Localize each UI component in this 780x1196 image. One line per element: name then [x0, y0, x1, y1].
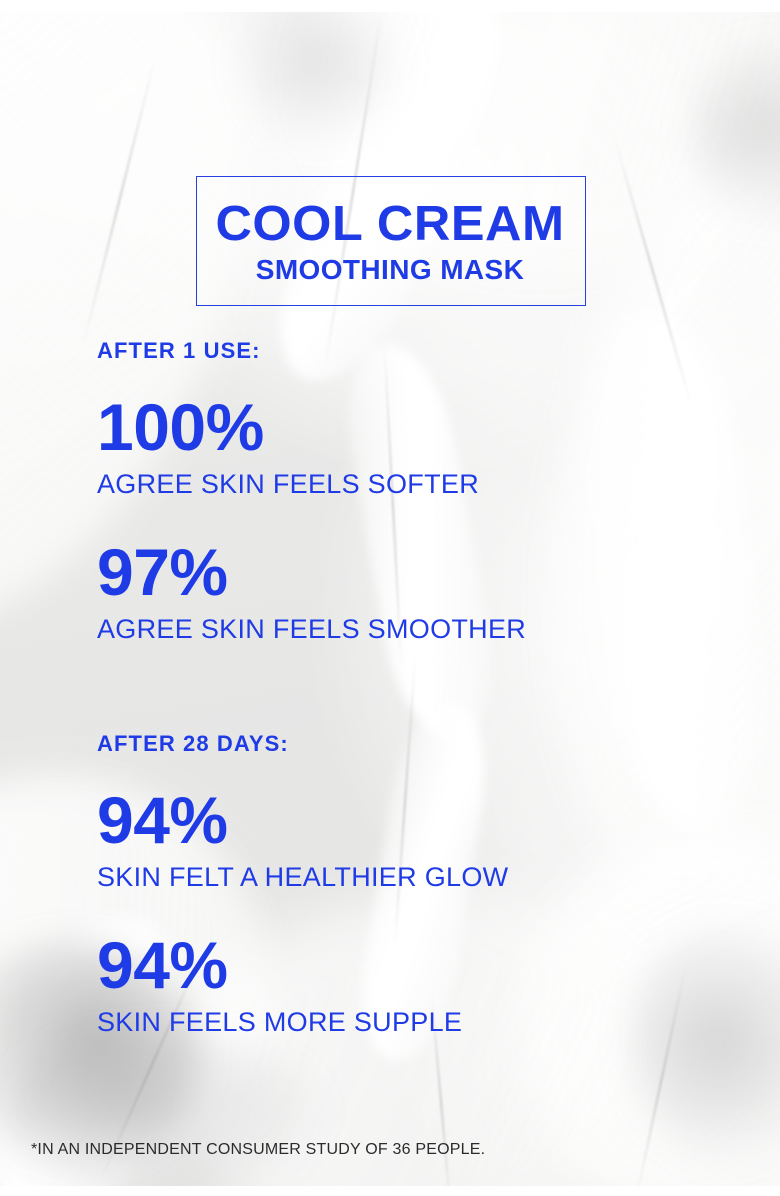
stat-item: 94% SKIN FEELS MORE SUPPLE — [97, 932, 737, 1036]
study-footnote: *IN AN INDEPENDENT CONSUMER STUDY OF 36 … — [31, 1142, 485, 1158]
stat-value: 97% — [97, 539, 737, 605]
product-claims-poster: COOL CREAM SMOOTHING MASK AFTER 1 USE: 1… — [0, 0, 780, 1196]
stat-value: 100% — [97, 394, 737, 460]
claims-group-after-28-days: AFTER 28 DAYS: 94% SKIN FELT A HEALTHIER… — [97, 733, 737, 1036]
group-label: AFTER 1 USE: — [97, 340, 737, 362]
claims-list: AFTER 1 USE: 100% AGREE SKIN FEELS SOFTE… — [97, 340, 737, 1036]
poster-content: COOL CREAM SMOOTHING MASK AFTER 1 USE: 1… — [0, 0, 780, 1196]
title-frame — [196, 176, 586, 306]
stat-value: 94% — [97, 787, 737, 853]
stat-value: 94% — [97, 932, 737, 998]
stat-item: 97% AGREE SKIN FEELS SMOOTHER — [97, 539, 737, 643]
stat-item: 100% AGREE SKIN FEELS SOFTER — [97, 394, 737, 498]
stat-label: AGREE SKIN FEELS SOFTER — [97, 471, 737, 498]
stat-label: AGREE SKIN FEELS SMOOTHER — [97, 616, 737, 643]
stat-item: 94% SKIN FELT A HEALTHIER GLOW — [97, 787, 737, 891]
stat-label: SKIN FELT A HEALTHIER GLOW — [97, 864, 737, 891]
group-label: AFTER 28 DAYS: — [97, 733, 737, 755]
claims-group-after-1-use: AFTER 1 USE: 100% AGREE SKIN FEELS SOFTE… — [97, 340, 737, 643]
stat-label: SKIN FEELS MORE SUPPLE — [97, 1009, 737, 1036]
